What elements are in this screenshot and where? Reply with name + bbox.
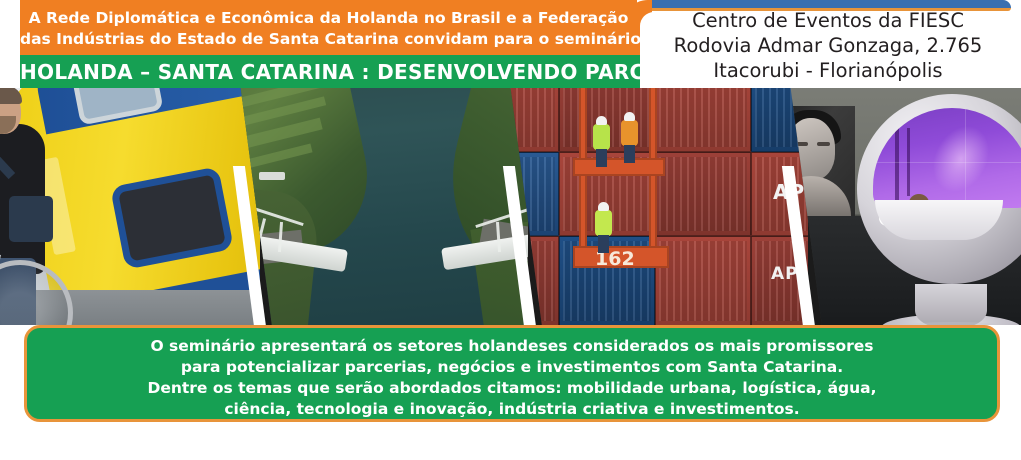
top-blue-rail [645, 0, 1011, 8]
invitation-line-2: das Indústrias do Estado de Santa Catari… [20, 29, 637, 50]
description-line-1: O seminário apresentará os setores holan… [27, 336, 997, 357]
description-line-3: Dentre os temas que serão abordados cita… [27, 378, 997, 399]
description-text: O seminário apresentará os setores holan… [27, 336, 997, 420]
venue-line-1: Centro de Eventos da FIESC [648, 8, 1008, 33]
invitation-line-1: A Rede Diplomática e Econômica da Holand… [20, 8, 637, 29]
photo-shipping-containers: APL APL 162 [508, 88, 808, 325]
photo-storm-barrier [238, 88, 528, 325]
photo-sleep-pod [788, 88, 1021, 325]
venue-line-2: Rodovia Admar Gonzaga, 2.765 [648, 33, 1008, 58]
description-block: O seminário apresentará os setores holan… [24, 325, 1000, 422]
description-line-2: para potencializar parcerias, negócios e… [27, 357, 997, 378]
photo-commuter-train [0, 88, 260, 325]
invitation-text: A Rede Diplomática e Econômica da Holand… [20, 8, 637, 50]
invitation-band: A Rede Diplomática e Econômica da Holand… [20, 0, 637, 55]
description-line-4: ciência, tecnologia e inovação, indústri… [27, 399, 997, 420]
seminar-title-band: HOLANDA – SANTA CATARINA : DESENVOLVENDO… [20, 55, 637, 88]
photo-strip: APL APL 162 [0, 88, 1021, 325]
seminar-title: HOLANDA – SANTA CATARINA : DESENVOLVENDO… [20, 60, 637, 84]
seminar-poster: Centro de Eventos da FIESC Rodovia Admar… [0, 0, 1021, 460]
